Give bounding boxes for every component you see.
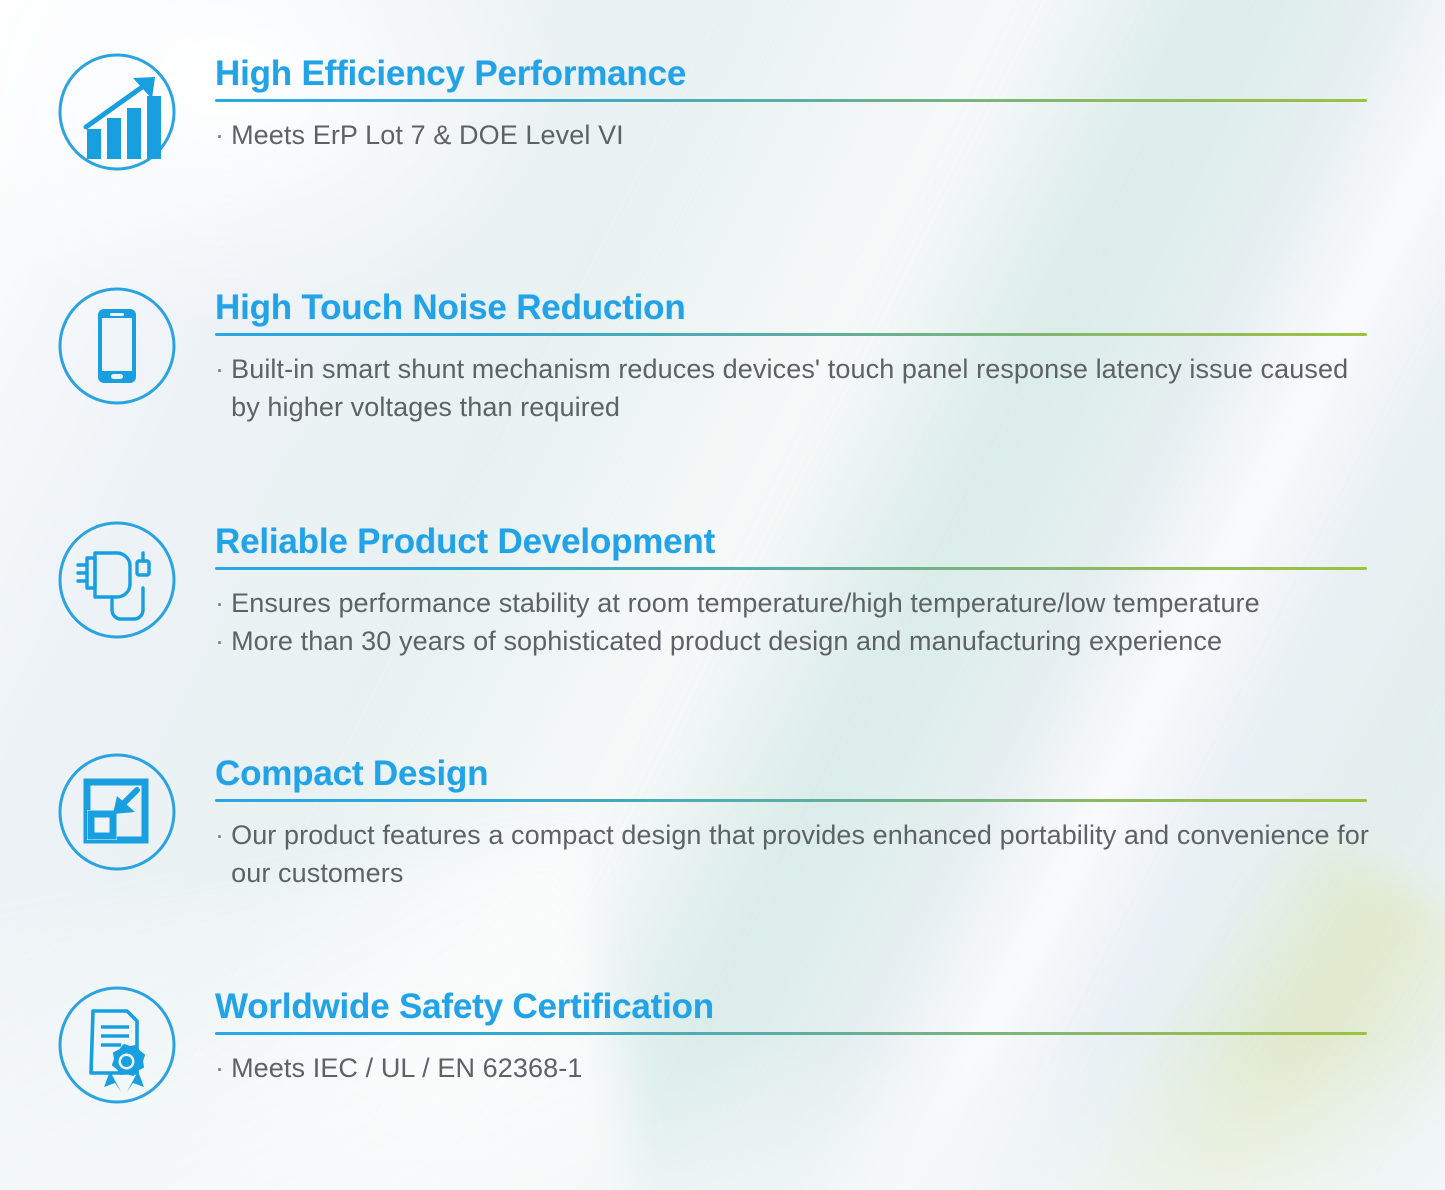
feature-highlights-page: High Efficiency Performance · Meets ErP …: [0, 0, 1445, 1190]
feature-divider: [215, 1032, 1367, 1035]
bullet-marker: ·: [215, 622, 224, 660]
feature-bullet-line: · Meets ErP Lot 7 & DOE Level VI: [215, 116, 1370, 154]
feature-content: Worldwide Safety Certification · Meets I…: [215, 983, 1370, 1087]
feature-bullet-text: Our product features a compact design th…: [231, 816, 1370, 893]
feature-content: Compact Design · Our product features a …: [215, 750, 1370, 892]
feature-bullet-line: · Our product features a compact design …: [215, 816, 1370, 893]
feature-bullets: · Ensures performance stability at room …: [215, 584, 1370, 661]
bullet-marker: ·: [215, 816, 224, 893]
bullet-marker: ·: [215, 116, 224, 154]
feature-bullets: · Meets ErP Lot 7 & DOE Level VI: [215, 116, 1370, 154]
feature-bullet-text: Meets IEC / UL / EN 62368-1: [231, 1049, 1370, 1087]
smartphone-icon: [55, 284, 179, 408]
feature-bullet-line: · Ensures performance stability at room …: [215, 584, 1370, 622]
feature-bullet-text: Built-in smart shunt mechanism reduces d…: [231, 350, 1370, 427]
feature-item-worldwide-safety-certification: Worldwide Safety Certification · Meets I…: [55, 983, 1370, 1107]
bar-chart-growth-icon: [55, 50, 179, 174]
power-adapter-icon: [55, 518, 179, 642]
feature-title: Compact Design: [215, 756, 1370, 793]
feature-item-reliable-product-development: Reliable Product Development · Ensures p…: [55, 518, 1370, 660]
feature-divider: [215, 799, 1367, 802]
feature-bullet-line: · Meets IEC / UL / EN 62368-1: [215, 1049, 1370, 1087]
feature-content: Reliable Product Development · Ensures p…: [215, 518, 1370, 660]
feature-content: High Efficiency Performance · Meets ErP …: [215, 50, 1370, 154]
compact-resize-icon: [55, 750, 179, 874]
feature-bullets: · Meets IEC / UL / EN 62368-1: [215, 1049, 1370, 1087]
feature-divider: [215, 99, 1367, 102]
bullet-marker: ·: [215, 1049, 224, 1087]
certificate-award-icon: [55, 983, 179, 1107]
feature-bullet-line: · Built-in smart shunt mechanism reduces…: [215, 350, 1370, 427]
feature-bullets: · Our product features a compact design …: [215, 816, 1370, 893]
feature-bullet-text: More than 30 years of sophisticated prod…: [231, 622, 1370, 660]
bullet-marker: ·: [215, 584, 224, 622]
feature-title: Worldwide Safety Certification: [215, 989, 1370, 1026]
feature-bullet-line: · More than 30 years of sophisticated pr…: [215, 622, 1370, 660]
feature-item-high-efficiency-performance: High Efficiency Performance · Meets ErP …: [55, 50, 1370, 174]
feature-item-high-touch-noise-reduction: High Touch Noise Reduction · Built-in sm…: [55, 284, 1370, 426]
feature-title: Reliable Product Development: [215, 524, 1370, 561]
feature-divider: [215, 567, 1367, 570]
feature-item-compact-design: Compact Design · Our product features a …: [55, 750, 1370, 892]
feature-bullets: · Built-in smart shunt mechanism reduces…: [215, 350, 1370, 427]
feature-bullet-text: Meets ErP Lot 7 & DOE Level VI: [231, 116, 1370, 154]
feature-title: High Touch Noise Reduction: [215, 290, 1370, 327]
feature-content: High Touch Noise Reduction · Built-in sm…: [215, 284, 1370, 426]
bullet-marker: ·: [215, 350, 224, 427]
feature-bullet-text: Ensures performance stability at room te…: [231, 584, 1370, 622]
feature-title: High Efficiency Performance: [215, 56, 1370, 93]
feature-divider: [215, 333, 1367, 336]
